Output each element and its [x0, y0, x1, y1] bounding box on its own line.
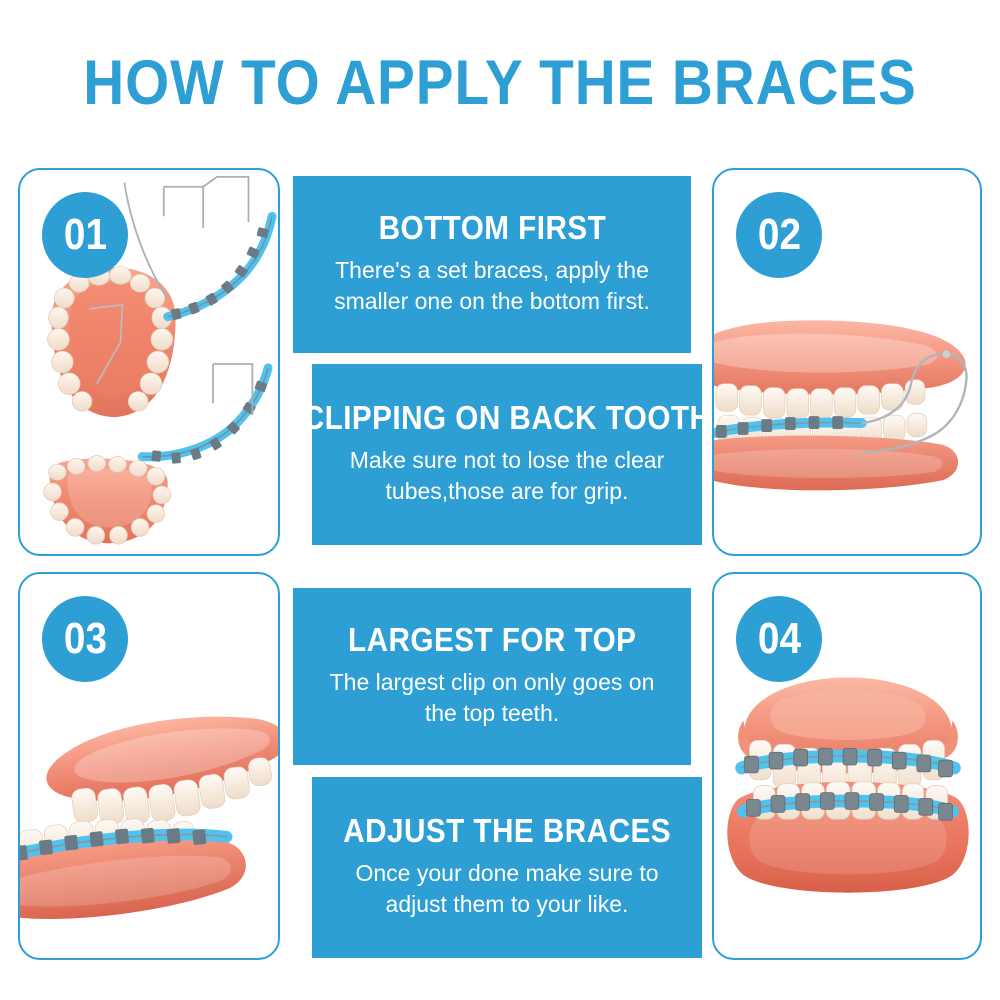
step-card-03: 03 [18, 572, 280, 960]
step-heading-03: LARGEST FOR TOP [348, 623, 636, 658]
lower-denture [44, 456, 171, 545]
page-title: HOW TO APPLY THE BRACES [50, 52, 950, 115]
lower-arch-braces-03 [20, 805, 250, 929]
step-text-panel-01: BOTTOM FIRST There's a set braces, apply… [293, 176, 691, 353]
step-text-panel-04: ADJUST THE BRACES Once your done make su… [312, 777, 702, 958]
step-body-01: There's a set braces, apply the smaller … [315, 255, 670, 318]
step-text-panel-02: CLIPPING ON BACK TOOTH Make sure not to … [312, 364, 702, 545]
step-badge-03: 03 [42, 596, 128, 682]
step-badge-04: 04 [736, 596, 822, 682]
step-heading-01: BOTTOM FIRST [378, 211, 606, 246]
step-body-04: Once your done make sure to adjust them … [330, 858, 685, 921]
step-body-02: Make sure not to lose the clear tubes,th… [330, 445, 685, 508]
step-number-02: 02 [757, 213, 800, 257]
step-card-01: 01 [18, 168, 280, 556]
clip-hook [943, 350, 951, 358]
step-number-04: 04 [757, 617, 800, 661]
upper-arch-angled [41, 704, 278, 837]
upper-denture [48, 266, 176, 417]
step-badge-01: 01 [42, 192, 128, 278]
step-number-01: 01 [63, 213, 106, 257]
step-number-03: 03 [63, 617, 106, 661]
step-heading-04: ADJUST THE BRACES [343, 814, 671, 849]
braces-strip-upper [168, 216, 272, 320]
step-heading-02: CLIPPING ON BACK TOOTH [303, 401, 712, 436]
upper-arch-side [714, 320, 966, 419]
step-badge-02: 02 [736, 192, 822, 278]
step-card-02: 02 [712, 168, 982, 556]
step-text-panel-03: LARGEST FOR TOP The largest clip on only… [293, 588, 691, 765]
step-card-04: 04 [712, 572, 982, 960]
step-body-03: The largest clip on only goes on the top… [315, 667, 670, 730]
